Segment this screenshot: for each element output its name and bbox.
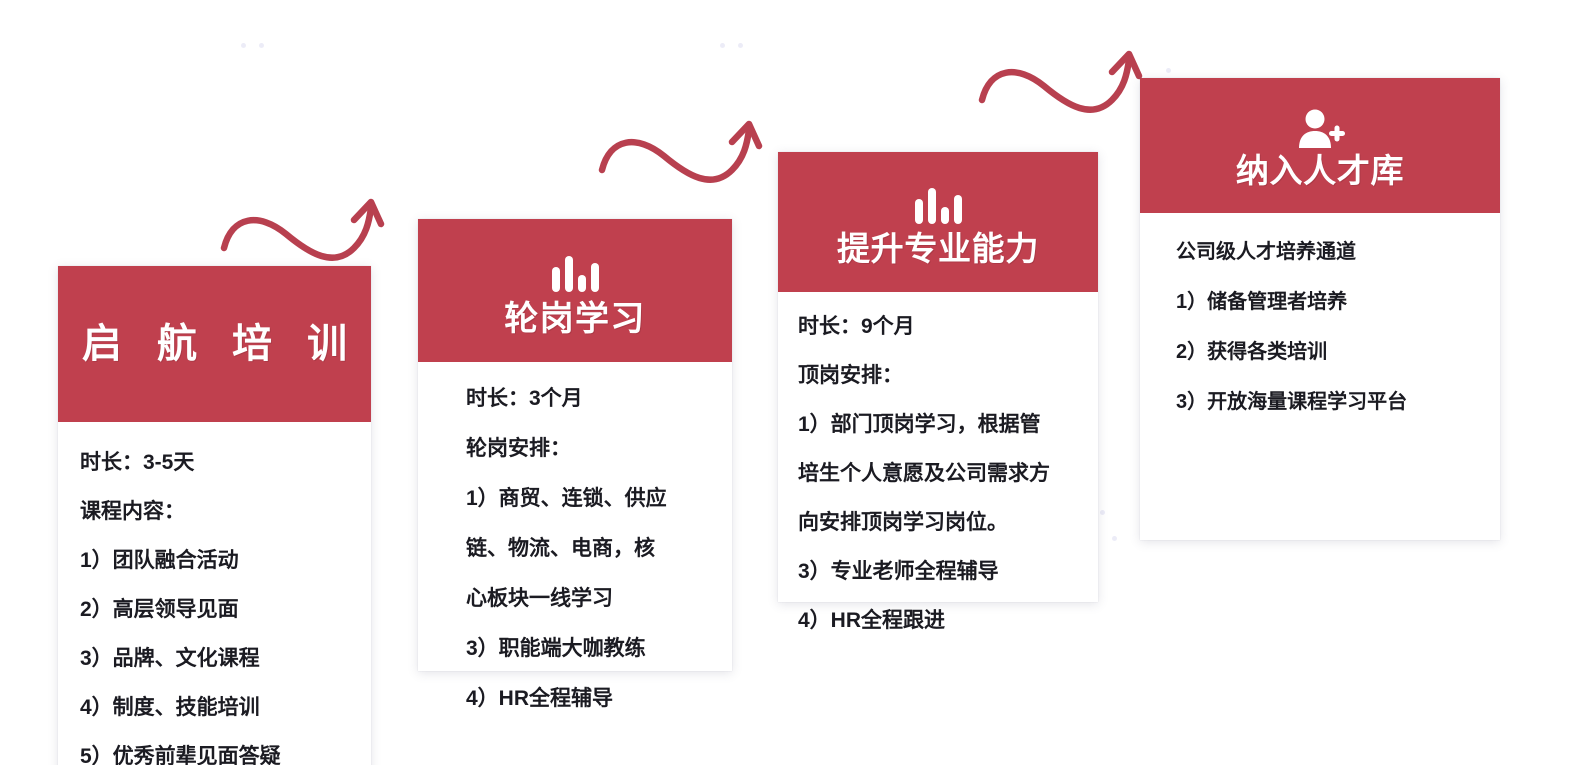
stage-card-lungang-xuexi[interactable]: 轮岗学习 时长：3个月 轮岗安排： 1）商贸、连锁、供应 链、物流、电商，核 心… — [418, 219, 732, 671]
stage-card-qihang-peixun[interactable]: 启 航 培 训 时长：3-5天 课程内容： 1）团队融合活动 2）高层领导见面 … — [58, 266, 371, 765]
bar-chart-icon — [912, 186, 964, 226]
card-line: 1）团队融合活动 — [80, 544, 349, 574]
card-line: 链、物流、电商，核 — [466, 532, 706, 562]
card-header: 提升专业能力 — [778, 152, 1098, 292]
card-line: 3）职能端大咖教练 — [466, 632, 706, 662]
card-line: 顶岗安排： — [798, 359, 1080, 389]
card-body: 时长：3-5天 课程内容： 1）团队融合活动 2）高层领导见面 3）品牌、文化课… — [58, 422, 371, 765]
card-line: 心板块一线学习 — [466, 582, 706, 612]
arrow-card2-to-card3 — [592, 108, 772, 208]
card-line: 公司级人才培养通道 — [1176, 235, 1482, 264]
stage-card-tisheng-zhuanye-nengli[interactable]: 提升专业能力 时长：9个月 顶岗安排： 1）部门顶岗学习，根据管 培生个人意愿及… — [778, 152, 1098, 602]
card-title: 纳入人才库 — [1236, 154, 1404, 189]
card-line: 时长：9个月 — [798, 310, 1080, 340]
card-title: 启 航 培 训 — [70, 323, 359, 365]
card-line: 2）获得各类培训 — [1176, 335, 1482, 364]
card-header: 纳入人才库 — [1140, 78, 1500, 213]
card-title: 轮岗学习 — [504, 302, 645, 338]
decorative-dot — [720, 43, 725, 48]
card-line: 2）高层领导见面 — [80, 593, 349, 623]
decorative-dot — [1166, 68, 1171, 73]
decorative-dot — [241, 43, 246, 48]
card-line: 3）品牌、文化课程 — [80, 642, 349, 672]
card-line: 1）部门顶岗学习，根据管 — [798, 408, 1080, 438]
card-line: 时长：3个月 — [466, 382, 706, 412]
card-line: 课程内容： — [80, 495, 349, 525]
card-line: 4）HR全程辅导 — [466, 682, 706, 712]
card-line: 5）优秀前辈见面答疑 — [80, 740, 349, 765]
stage-card-naru-rencaiku[interactable]: 纳入人才库 公司级人才培养通道 1）储备管理者培养 2）获得各类培训 3）开放海… — [1140, 78, 1500, 540]
arrow-card3-to-card4 — [972, 38, 1152, 138]
card-header: 轮岗学习 — [418, 219, 732, 362]
card-title: 提升专业能力 — [837, 232, 1039, 267]
card-line: 4）HR全程跟进 — [798, 604, 1080, 634]
card-line: 向安排顶岗学习岗位。 — [798, 506, 1080, 536]
decorative-dot — [1100, 510, 1105, 515]
decorative-dot — [259, 43, 264, 48]
card-line: 轮岗安排： — [466, 432, 706, 462]
add-user-icon — [1295, 108, 1345, 150]
bar-chart-icon — [549, 254, 601, 294]
card-header: 启 航 培 训 — [58, 266, 371, 422]
card-line: 时长：3-5天 — [80, 446, 349, 476]
card-line: 3）开放海量课程学习平台 — [1176, 385, 1482, 414]
card-line: 3）专业老师全程辅导 — [798, 555, 1080, 585]
decorative-dot — [1112, 536, 1117, 541]
flow-diagram-canvas: 启 航 培 训 时长：3-5天 课程内容： 1）团队融合活动 2）高层领导见面 … — [0, 0, 1569, 765]
decorative-dot — [738, 43, 743, 48]
card-body: 时长：9个月 顶岗安排： 1）部门顶岗学习，根据管 培生个人意愿及公司需求方 向… — [778, 292, 1098, 663]
card-line: 1）储备管理者培养 — [1176, 285, 1482, 314]
card-line: 1）商贸、连锁、供应 — [466, 482, 706, 512]
card-body: 时长：3个月 轮岗安排： 1）商贸、连锁、供应 链、物流、电商，核 心板块一线学… — [418, 362, 732, 742]
card-line: 培生个人意愿及公司需求方 — [798, 457, 1080, 487]
card-body: 公司级人才培养通道 1）储备管理者培养 2）获得各类培训 3）开放海量课程学习平… — [1140, 213, 1500, 445]
card-line: 4）制度、技能培训 — [80, 691, 349, 721]
